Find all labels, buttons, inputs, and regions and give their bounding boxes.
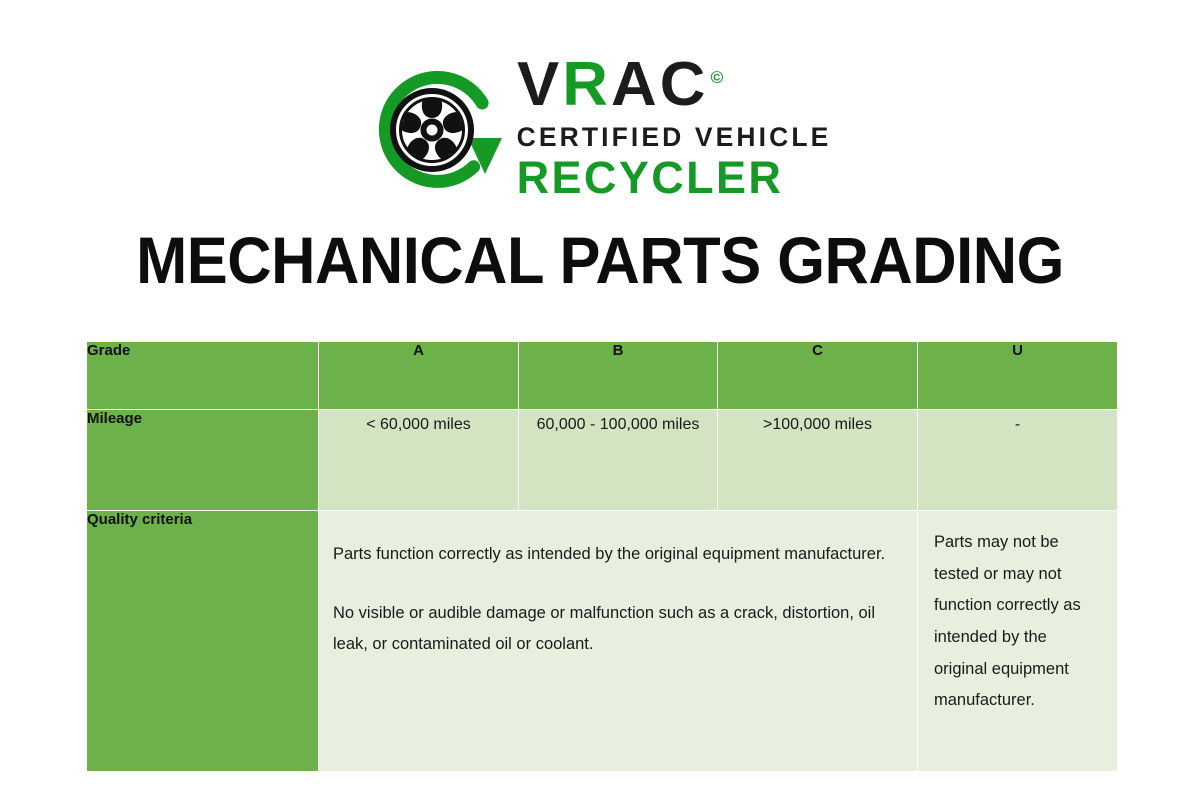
- brand-word-recycler: RECYCLER: [517, 155, 784, 200]
- row-label-quality-criteria: Quality criteria: [87, 511, 319, 772]
- copyright-icon: ©: [710, 68, 723, 87]
- cell-quality-u: Parts may not be tested or may not funct…: [918, 511, 1118, 772]
- recycling-wheel-icon: [369, 56, 511, 198]
- quality-paragraph-2: No visible or audible damage or malfunct…: [333, 598, 897, 661]
- cell-mileage-c: >100,000 miles: [718, 410, 918, 511]
- logo-wordmark: VRAC© CERTIFIED VEHICLE RECYCLER: [517, 54, 832, 201]
- brand-name-r: R: [562, 50, 611, 119]
- header-grade-label: Grade: [87, 342, 319, 410]
- header-grade-u: U: [918, 342, 1118, 410]
- paragraph-spacer: [333, 571, 897, 598]
- logo-inner: VRAC© CERTIFIED VEHICLE RECYCLER: [369, 54, 832, 201]
- table-row-mileage: Mileage < 60,000 miles 60,000 - 100,000 …: [87, 410, 1118, 511]
- header-grade-c: C: [718, 342, 918, 410]
- brand-name-ac: AC: [611, 50, 708, 119]
- mechanical-parts-grading-table: Grade A B C U Mileage < 60,000 miles 60,…: [86, 341, 1118, 772]
- header-grade-b: B: [519, 342, 718, 410]
- brand-name: VRAC©: [517, 54, 723, 116]
- cell-quality-abc: Parts function correctly as intended by …: [319, 511, 918, 772]
- page-title: MECHANICAL PARTS GRADING: [42, 222, 1158, 298]
- table-header-row: Grade A B C U: [87, 342, 1118, 410]
- brand-logo: VRAC© CERTIFIED VEHICLE RECYCLER: [0, 52, 1200, 202]
- cell-mileage-u: -: [918, 410, 1118, 511]
- brand-tagline: CERTIFIED VEHICLE: [517, 124, 832, 151]
- table-row-quality-criteria: Quality criteria Parts function correctl…: [87, 511, 1118, 772]
- quality-paragraph-1: Parts function correctly as intended by …: [333, 539, 897, 571]
- brand-name-v: V: [517, 50, 562, 119]
- cell-mileage-b: 60,000 - 100,000 miles: [519, 410, 718, 511]
- header-grade-a: A: [319, 342, 519, 410]
- cell-mileage-a: < 60,000 miles: [319, 410, 519, 511]
- row-label-mileage: Mileage: [87, 410, 319, 511]
